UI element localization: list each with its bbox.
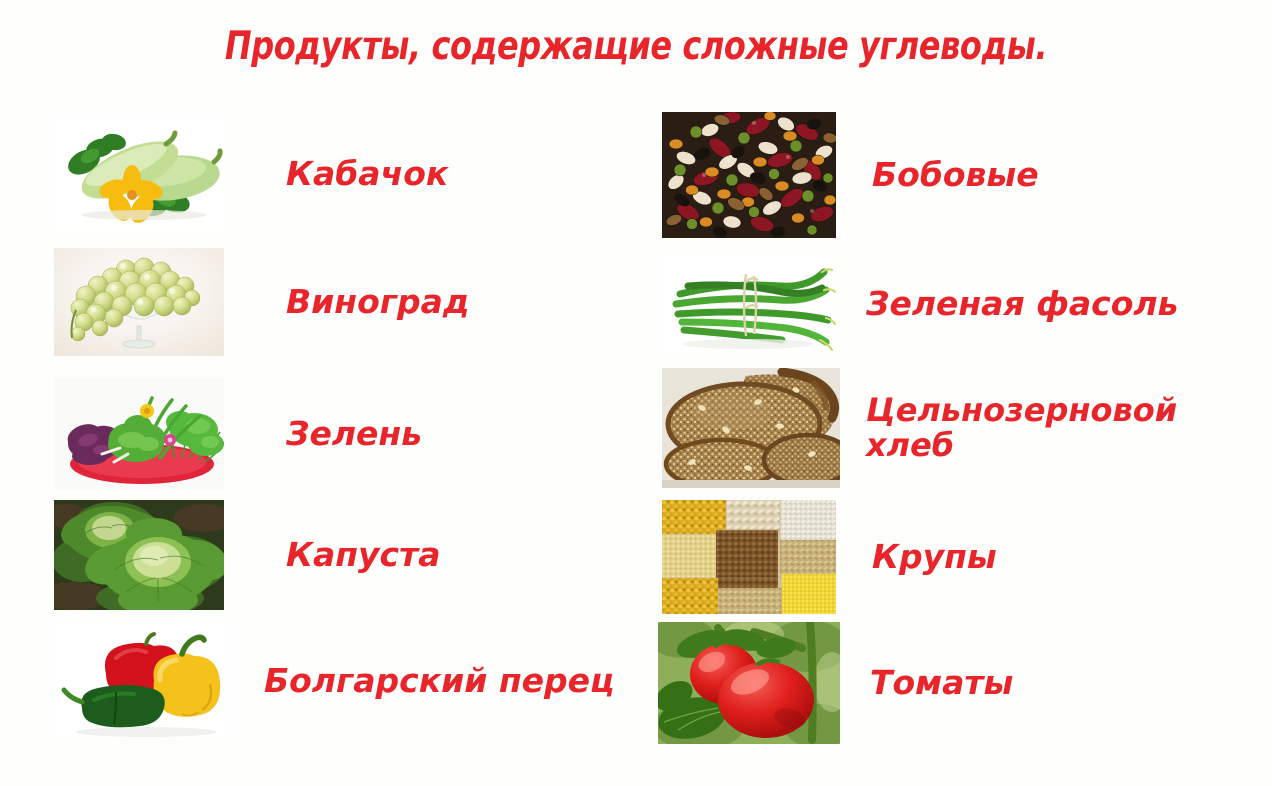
list-item: Цельнозерновой хлеб — [662, 368, 1236, 488]
slide-canvas: Продукты, содержащие сложные углеводы. — [0, 0, 1272, 786]
page-title: Продукты, содержащие сложные углеводы. — [114, 24, 1157, 69]
wholegrain-bread-illustration — [662, 368, 840, 488]
zucchini-photo — [54, 116, 224, 231]
bell-peppers-illustration — [54, 622, 230, 740]
grains-photo — [662, 500, 836, 614]
list-item-label: Виноград — [286, 284, 470, 320]
cabbage-illustration — [54, 500, 224, 610]
list-item-label: Цельнозерновой хлеб — [866, 393, 1236, 462]
bell-peppers-photo — [54, 622, 230, 740]
list-item: Бобовые — [662, 112, 1039, 238]
green-beans-photo — [662, 252, 836, 356]
list-item: Зелень — [54, 378, 422, 490]
list-item-label: Кабачок — [286, 156, 448, 192]
tomatoes-photo — [658, 622, 840, 744]
list-item-label: Крупы — [872, 539, 997, 575]
list-item-label: Зеленая фасоль — [866, 286, 1178, 322]
fresh-herbs-photo — [54, 378, 224, 490]
fresh-herbs-illustration — [54, 378, 224, 490]
list-item-label: Болгарский перец — [264, 663, 614, 699]
list-item: Кабачок — [54, 116, 448, 231]
list-item: Зеленая фасоль — [662, 252, 1178, 356]
cabbage-photo — [54, 500, 224, 610]
list-item: Капуста — [54, 500, 441, 610]
grapes-illustration — [54, 248, 224, 356]
grapes-photo — [54, 248, 224, 356]
tomatoes-illustration — [658, 622, 840, 744]
list-item: Виноград — [54, 248, 470, 356]
list-item: Болгарский перец — [54, 622, 614, 740]
legumes-photo — [662, 112, 836, 238]
list-item-label: Бобовые — [872, 157, 1039, 193]
list-item: Крупы — [662, 500, 997, 614]
grains-illustration — [662, 500, 836, 614]
wholegrain-bread-photo — [662, 368, 840, 488]
list-item-label: Капуста — [286, 537, 441, 573]
list-item-label: Томаты — [870, 665, 1013, 701]
list-item-label: Зелень — [286, 416, 422, 452]
legumes-illustration — [662, 112, 836, 238]
list-item: Томаты — [658, 622, 1013, 744]
green-beans-illustration — [662, 252, 836, 356]
zucchini-illustration — [54, 116, 224, 231]
